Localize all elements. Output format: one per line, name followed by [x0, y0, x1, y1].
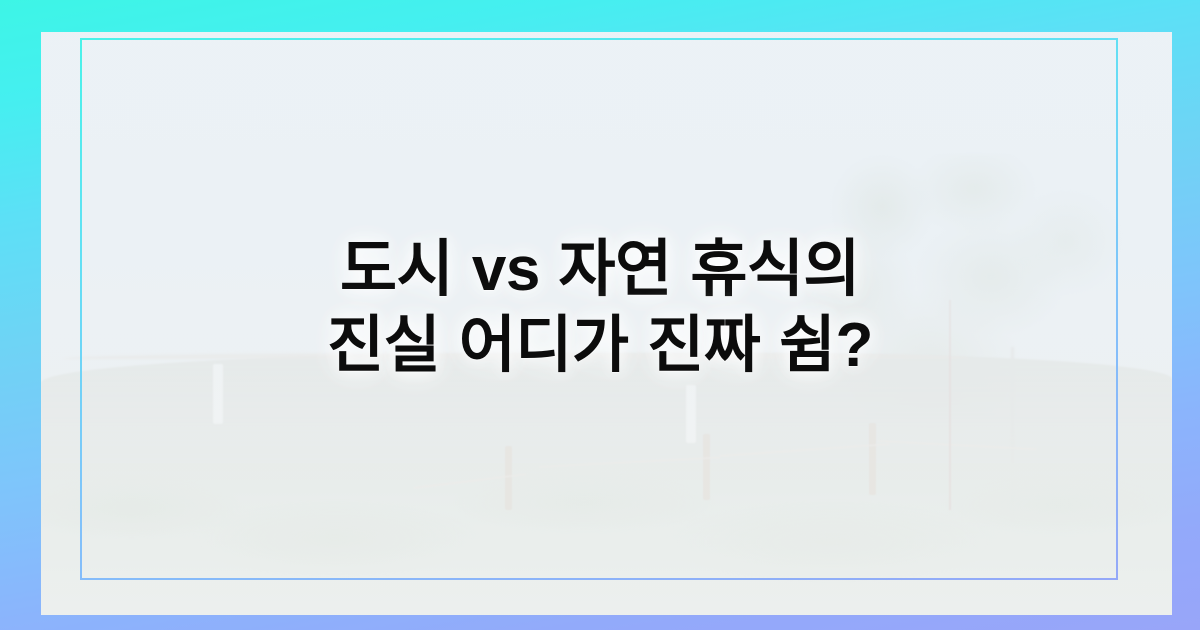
- page-title: 도시 vs 자연 휴식의 진실 어디가 진짜 쉼?: [327, 234, 873, 382]
- headline-line-2: 진실 어디가 진짜 쉼?: [327, 310, 873, 382]
- headline-line-1: 도시 vs 자연 휴식의: [327, 234, 873, 306]
- blog-thumbnail-card: 도시 vs 자연 휴식의 진실 어디가 진짜 쉼?: [0, 0, 1200, 630]
- headline-container: 도시 vs 자연 휴식의 진실 어디가 진짜 쉼?: [0, 0, 1200, 630]
